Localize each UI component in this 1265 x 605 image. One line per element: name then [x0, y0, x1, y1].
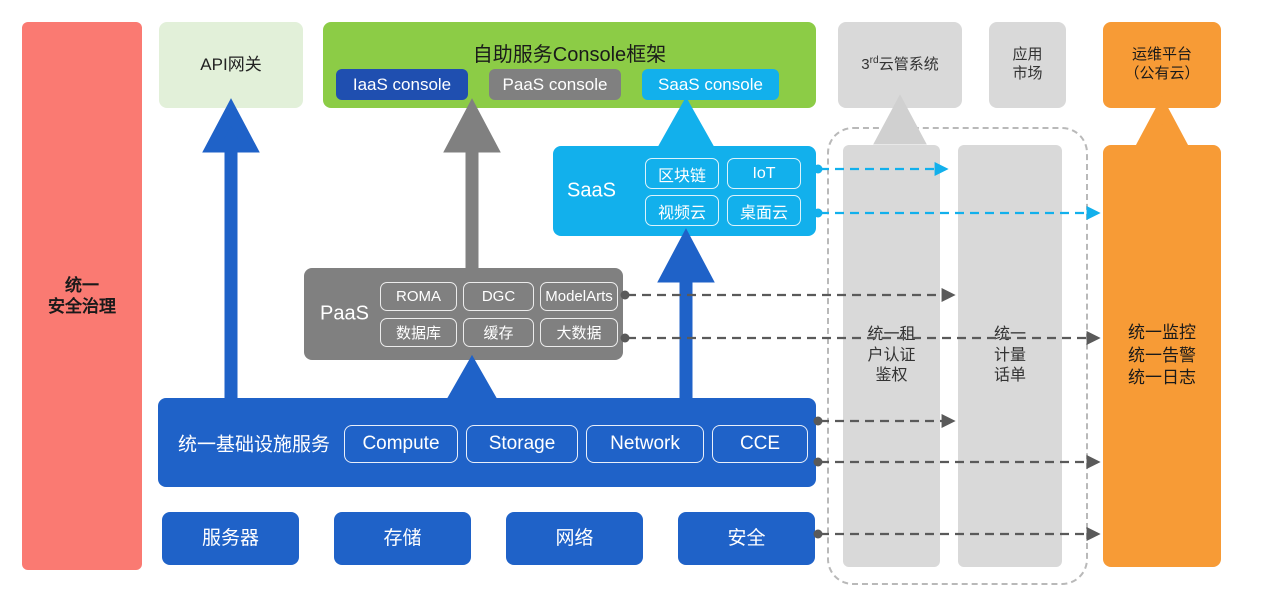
arrow-infra-to-paas — [456, 368, 488, 398]
chip-paas-console-label: PaaS console — [503, 75, 608, 95]
saas-tag-desktop-cloud[interactable]: 桌面云 — [727, 195, 801, 226]
paas-tag-bigdata[interactable]: 大数据 — [540, 318, 618, 347]
hardware-box-network: 网络 — [506, 512, 643, 565]
infra-tag-compute-label: Compute — [362, 433, 439, 455]
saas-tag-iot-label: IoT — [752, 165, 775, 183]
api-gateway-box: API网关 — [159, 22, 303, 108]
paas-tag-dgc-label: DGC — [482, 288, 515, 305]
console-panel-title: 自助服务Console框架 — [323, 38, 816, 67]
chip-saas-console-label: SaaS console — [658, 75, 763, 95]
app-market-line-2: 市场 — [1012, 65, 1042, 84]
paas-tag-modelarts[interactable]: ModelArts — [540, 282, 618, 311]
infra-tag-storage[interactable]: Storage — [466, 425, 578, 463]
third-party-cloud-management-box: 3rd云管系统 — [838, 22, 962, 108]
ops-platform-public-cloud-box: 运维平台 （公有云） — [1103, 22, 1221, 108]
paas-label: PaaS — [320, 303, 369, 326]
auth-line-3: 鉴权 — [875, 366, 907, 387]
saas-tag-blockchain-label: 区块链 — [658, 162, 706, 186]
ops-panel-line-1: 统一监控 — [1128, 322, 1196, 345]
architecture-diagram: 统一 安全治理 API网关 自助服务Console框架 IaaS console… — [0, 0, 1265, 605]
paas-tag-roma[interactable]: ROMA — [380, 282, 457, 311]
governance-line-2: 安全治理 — [48, 296, 116, 317]
ops-top-line-1: 运维平台 — [1132, 46, 1192, 65]
hardware-box-server: 服务器 — [162, 512, 299, 565]
saas-block: SaaS 区块链 IoT 视频云 桌面云 — [553, 146, 816, 236]
paas-tag-modelarts-label: ModelArts — [545, 288, 613, 305]
auth-line-2: 户认证 — [867, 346, 915, 367]
paas-tag-roma-label: ROMA — [396, 288, 441, 305]
infra-tag-cce-label: CCE — [740, 433, 780, 455]
arrow-paas-to-console — [454, 112, 490, 268]
paas-tag-cache-label: 缓存 — [483, 322, 513, 343]
saas-tag-blockchain[interactable]: 区块链 — [645, 158, 719, 189]
governance-line-1: 统一 — [65, 275, 99, 296]
paas-tag-database-label: 数据库 — [396, 322, 441, 343]
api-gateway-label: API网关 — [200, 54, 261, 75]
hardware-server-label: 服务器 — [202, 527, 259, 551]
infra-tag-network-label: Network — [610, 433, 680, 455]
hardware-storage-label: 存储 — [383, 527, 421, 551]
arrow-infra-to-saas — [668, 242, 704, 398]
saas-label: SaaS — [567, 180, 616, 203]
hardware-network-label: 网络 — [555, 527, 593, 551]
unified-metering-billing-column: 统一 计量 话单 — [958, 145, 1062, 567]
app-market-box: 应用 市场 — [989, 22, 1066, 108]
infra-tag-storage-label: Storage — [489, 433, 556, 455]
metering-line-3: 话单 — [994, 366, 1026, 387]
unified-infrastructure-service-bar: 统一基础设施服务 Compute Storage Network CCE — [158, 398, 816, 487]
arrow-saas-to-console — [668, 110, 704, 146]
paas-tag-database[interactable]: 数据库 — [380, 318, 457, 347]
hardware-box-storage: 存储 — [334, 512, 471, 565]
paas-tag-cache[interactable]: 缓存 — [463, 318, 534, 347]
paas-tag-bigdata-label: 大数据 — [556, 322, 601, 343]
arrow-infra-to-api-gateway — [213, 112, 249, 398]
infra-tag-network[interactable]: Network — [586, 425, 704, 463]
infra-tag-cce[interactable]: CCE — [712, 425, 808, 463]
unified-security-governance-panel: 统一 安全治理 — [22, 22, 142, 570]
third-party-label: 3rd云管系统 — [861, 55, 938, 75]
ops-top-line-2: （公有云） — [1124, 65, 1199, 84]
ops-panel-line-3: 统一日志 — [1128, 367, 1196, 390]
infrastructure-label: 统一基础设施服务 — [178, 429, 330, 456]
ops-panel-line-2: 统一告警 — [1128, 345, 1196, 368]
chip-paas-console[interactable]: PaaS console — [489, 69, 621, 100]
paas-block: PaaS ROMA DGC ModelArts 数据库 缓存 大数据 — [304, 268, 623, 360]
unified-monitoring-panel: 统一监控 统一告警 统一日志 — [1103, 145, 1221, 567]
infra-tag-compute[interactable]: Compute — [344, 425, 458, 463]
paas-tag-dgc[interactable]: DGC — [463, 282, 534, 311]
saas-tag-desktop-cloud-label: 桌面云 — [740, 199, 788, 223]
metering-line-1: 统一 — [994, 325, 1026, 346]
chip-saas-console[interactable]: SaaS console — [642, 69, 779, 100]
self-service-console-panel: 自助服务Console框架 IaaS console PaaS console … — [323, 22, 816, 108]
hardware-box-security: 安全 — [678, 512, 815, 565]
saas-tag-iot[interactable]: IoT — [727, 158, 801, 189]
hardware-security-label: 安全 — [727, 527, 765, 551]
chip-iaas-console-label: IaaS console — [353, 75, 451, 95]
saas-tag-video-cloud-label: 视频云 — [658, 199, 706, 223]
app-market-line-1: 应用 — [1012, 46, 1042, 65]
metering-line-2: 计量 — [994, 346, 1026, 367]
auth-line-1: 统一租 — [867, 325, 915, 346]
unified-tenant-auth-column: 统一租 户认证 鉴权 — [843, 145, 940, 567]
chip-iaas-console[interactable]: IaaS console — [336, 69, 468, 100]
arrow-ops-to-ops-platform — [1146, 110, 1178, 140]
saas-tag-video-cloud[interactable]: 视频云 — [645, 195, 719, 226]
